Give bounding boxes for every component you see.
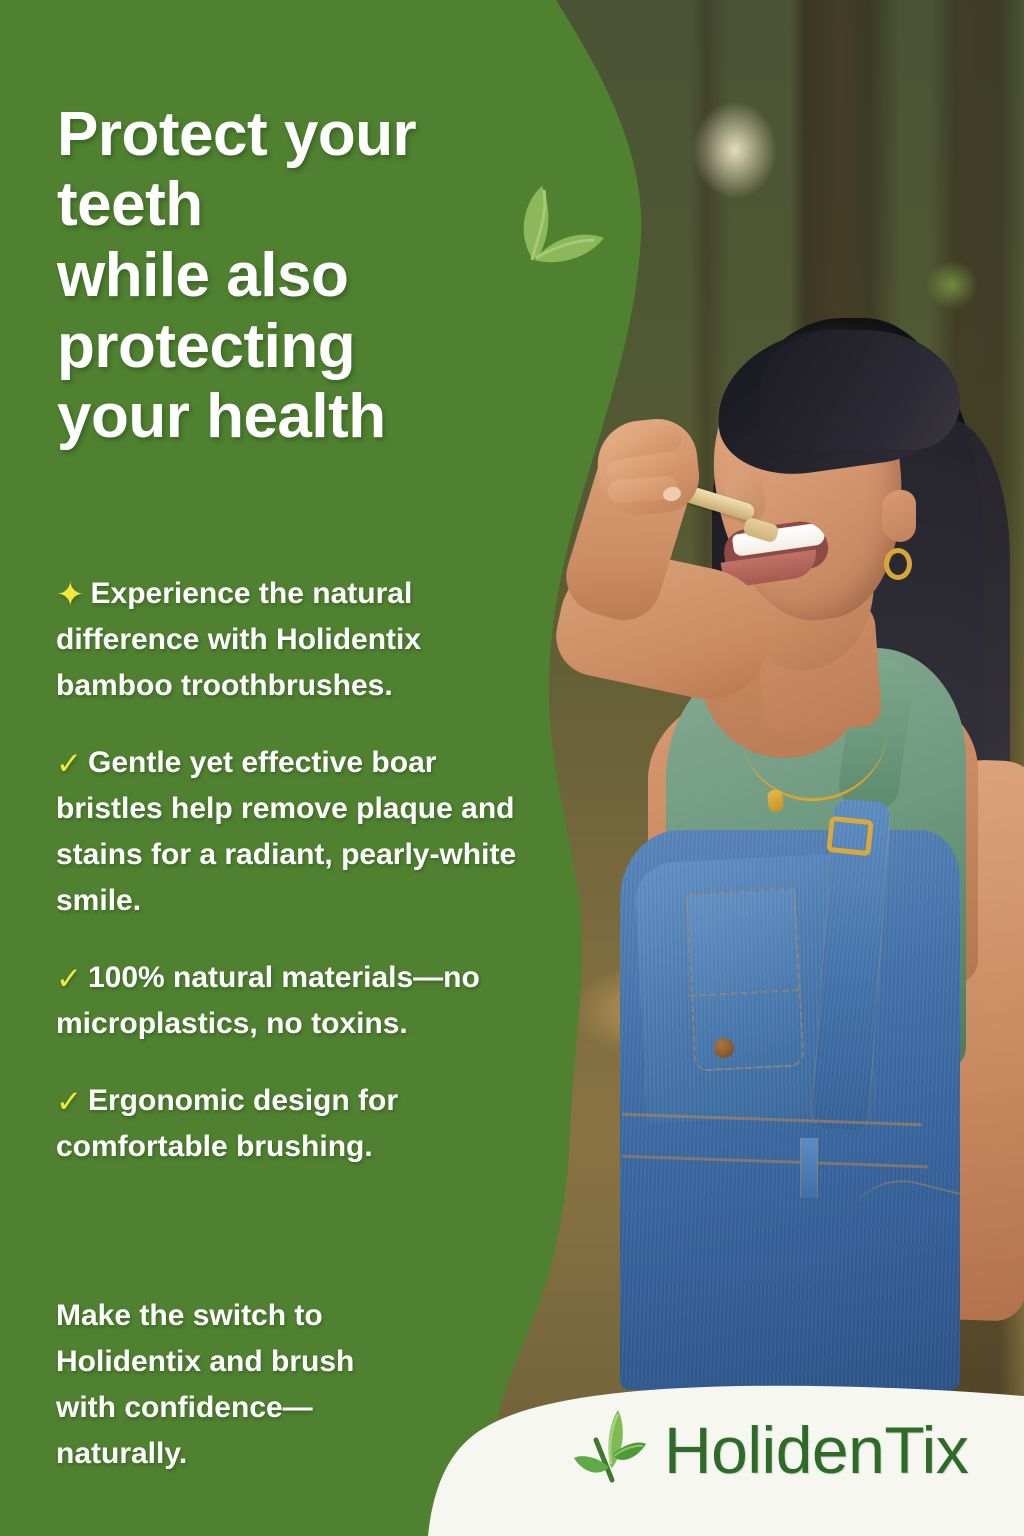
list-item: ✦Experience the natural difference with … — [56, 571, 536, 709]
list-item-text: Experience the natural difference with H… — [56, 577, 421, 702]
overalls-buckle — [826, 816, 874, 856]
poster-root: Protect your teeth while also protecting… — [0, 0, 1024, 1536]
list-item: ✓100% natural materials—no microplastics… — [56, 955, 536, 1047]
copy-column: Protect your teeth while also protecting… — [0, 0, 560, 1536]
page-title: Protect your teeth while also protecting… — [57, 100, 527, 453]
list-item: ✓Gentle yet effective boar bristles help… — [56, 740, 536, 924]
gold-hoop-earring — [884, 548, 912, 580]
leaf-sprig-icon — [566, 1404, 648, 1495]
brand-logo: HolidenTix — [566, 1404, 968, 1495]
list-item: ✓Ergonomic design for comfortable brushi… — [56, 1078, 536, 1170]
list-item-text: Gentle yet effective boar bristles help … — [56, 746, 516, 917]
list-item-text: Ergonomic design for comfortable brushin… — [56, 1084, 398, 1163]
brand-name: HolidenTix — [664, 1417, 968, 1483]
belt-loop — [800, 1138, 818, 1198]
ear — [882, 490, 916, 542]
check-icon: ✓ — [56, 1086, 82, 1117]
sparkle-icon: ✦ — [56, 578, 85, 612]
benefit-list: ✦Experience the natural difference with … — [56, 541, 536, 1201]
hair-sweep — [760, 330, 960, 450]
pocket-rivet — [714, 1038, 734, 1058]
bib-pocket-flap — [687, 955, 799, 997]
necklace-pendant — [767, 789, 784, 812]
check-icon: ✓ — [56, 748, 82, 779]
list-item-text: 100% natural materials—no microplastics,… — [56, 961, 480, 1040]
check-icon: ✓ — [56, 963, 82, 994]
